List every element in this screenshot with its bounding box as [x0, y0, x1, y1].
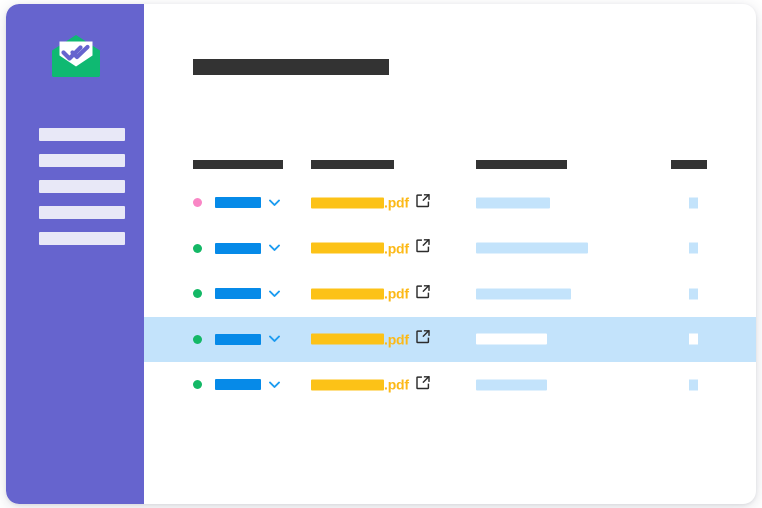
screenshot-root: .pdf: [0, 0, 762, 508]
file-name-placeholder: [311, 379, 384, 390]
status-indicator-dot-green: [193, 244, 202, 253]
sidebar-item-4[interactable]: [39, 206, 125, 219]
detail-placeholder: [476, 243, 588, 254]
cell-action[interactable]: [689, 243, 698, 254]
file-extension-label: .pdf: [384, 196, 409, 210]
action-chip[interactable]: [689, 197, 698, 208]
action-chip[interactable]: [689, 288, 698, 299]
cell-document[interactable]: .pdf: [311, 330, 430, 349]
chevron-down-icon[interactable]: [269, 194, 280, 212]
detail-placeholder: [476, 197, 550, 208]
table-row-3[interactable]: .pdf: [144, 271, 756, 317]
table-row-4[interactable]: .pdf: [144, 317, 756, 363]
documents-table: .pdf: [144, 154, 756, 408]
status-tag[interactable]: [215, 288, 261, 299]
cell-document[interactable]: .pdf: [311, 239, 430, 258]
file-name-placeholder: [311, 288, 384, 299]
cell-status[interactable]: [193, 285, 280, 303]
status-tag[interactable]: [215, 379, 261, 390]
action-chip[interactable]: [689, 379, 698, 390]
cell-status[interactable]: [193, 239, 280, 257]
status-indicator-dot-green: [193, 335, 202, 344]
table-header-row: [144, 154, 756, 180]
chevron-down-icon[interactable]: [269, 330, 280, 348]
status-indicator-dot-pink: [193, 198, 202, 207]
cell-document[interactable]: .pdf: [311, 284, 430, 303]
page-title: [193, 59, 389, 75]
cell-detail: [476, 334, 547, 345]
external-link-icon[interactable]: [416, 193, 430, 212]
table-body: .pdf: [144, 180, 756, 408]
main-content: .pdf: [144, 4, 756, 504]
chevron-down-icon[interactable]: [269, 239, 280, 257]
cell-action[interactable]: [689, 334, 698, 345]
status-tag[interactable]: [215, 197, 261, 208]
sidebar-item-1[interactable]: [39, 128, 125, 141]
cell-detail: [476, 197, 550, 208]
status-indicator-dot-green: [193, 380, 202, 389]
file-extension-label: .pdf: [384, 287, 409, 301]
detail-placeholder: [476, 379, 547, 390]
sidebar-item-3[interactable]: [39, 180, 125, 193]
action-chip[interactable]: [689, 334, 698, 345]
file-name-placeholder: [311, 243, 384, 254]
column-header-action[interactable]: [671, 160, 707, 169]
app-logo[interactable]: [50, 33, 102, 79]
detail-placeholder: [476, 288, 571, 299]
cell-status[interactable]: [193, 194, 280, 212]
status-tag[interactable]: [215, 243, 261, 254]
table-row-1[interactable]: .pdf: [144, 180, 756, 226]
chevron-down-icon[interactable]: [269, 376, 280, 394]
sidebar: [6, 4, 144, 504]
cell-status[interactable]: [193, 330, 280, 348]
file-extension-label: .pdf: [384, 378, 409, 392]
external-link-icon[interactable]: [416, 284, 430, 303]
file-extension-label: .pdf: [384, 332, 409, 346]
action-chip[interactable]: [689, 243, 698, 254]
sidebar-nav-list: [39, 128, 125, 258]
file-extension-label: .pdf: [384, 241, 409, 255]
column-header-status[interactable]: [193, 160, 283, 169]
column-header-detail[interactable]: [476, 160, 567, 169]
app-window-card: .pdf: [6, 4, 756, 504]
envelope-double-check-icon: [50, 33, 102, 79]
detail-placeholder: [476, 334, 547, 345]
cell-detail: [476, 243, 588, 254]
cell-detail: [476, 379, 547, 390]
external-link-icon[interactable]: [416, 330, 430, 349]
cell-document[interactable]: .pdf: [311, 193, 430, 212]
sidebar-item-2[interactable]: [39, 154, 125, 167]
cell-action[interactable]: [689, 288, 698, 299]
cell-detail: [476, 288, 571, 299]
table-row-2[interactable]: .pdf: [144, 226, 756, 272]
status-tag[interactable]: [215, 334, 261, 345]
sidebar-item-5[interactable]: [39, 232, 125, 245]
column-header-document[interactable]: [311, 160, 394, 169]
file-name-placeholder: [311, 197, 384, 208]
external-link-icon[interactable]: [416, 375, 430, 394]
chevron-down-icon[interactable]: [269, 285, 280, 303]
cell-action[interactable]: [689, 197, 698, 208]
cell-status[interactable]: [193, 376, 280, 394]
cell-document[interactable]: .pdf: [311, 375, 430, 394]
cell-action[interactable]: [689, 379, 698, 390]
external-link-icon[interactable]: [416, 239, 430, 258]
file-name-placeholder: [311, 334, 384, 345]
table-row-5[interactable]: .pdf: [144, 362, 756, 408]
status-indicator-dot-green: [193, 289, 202, 298]
